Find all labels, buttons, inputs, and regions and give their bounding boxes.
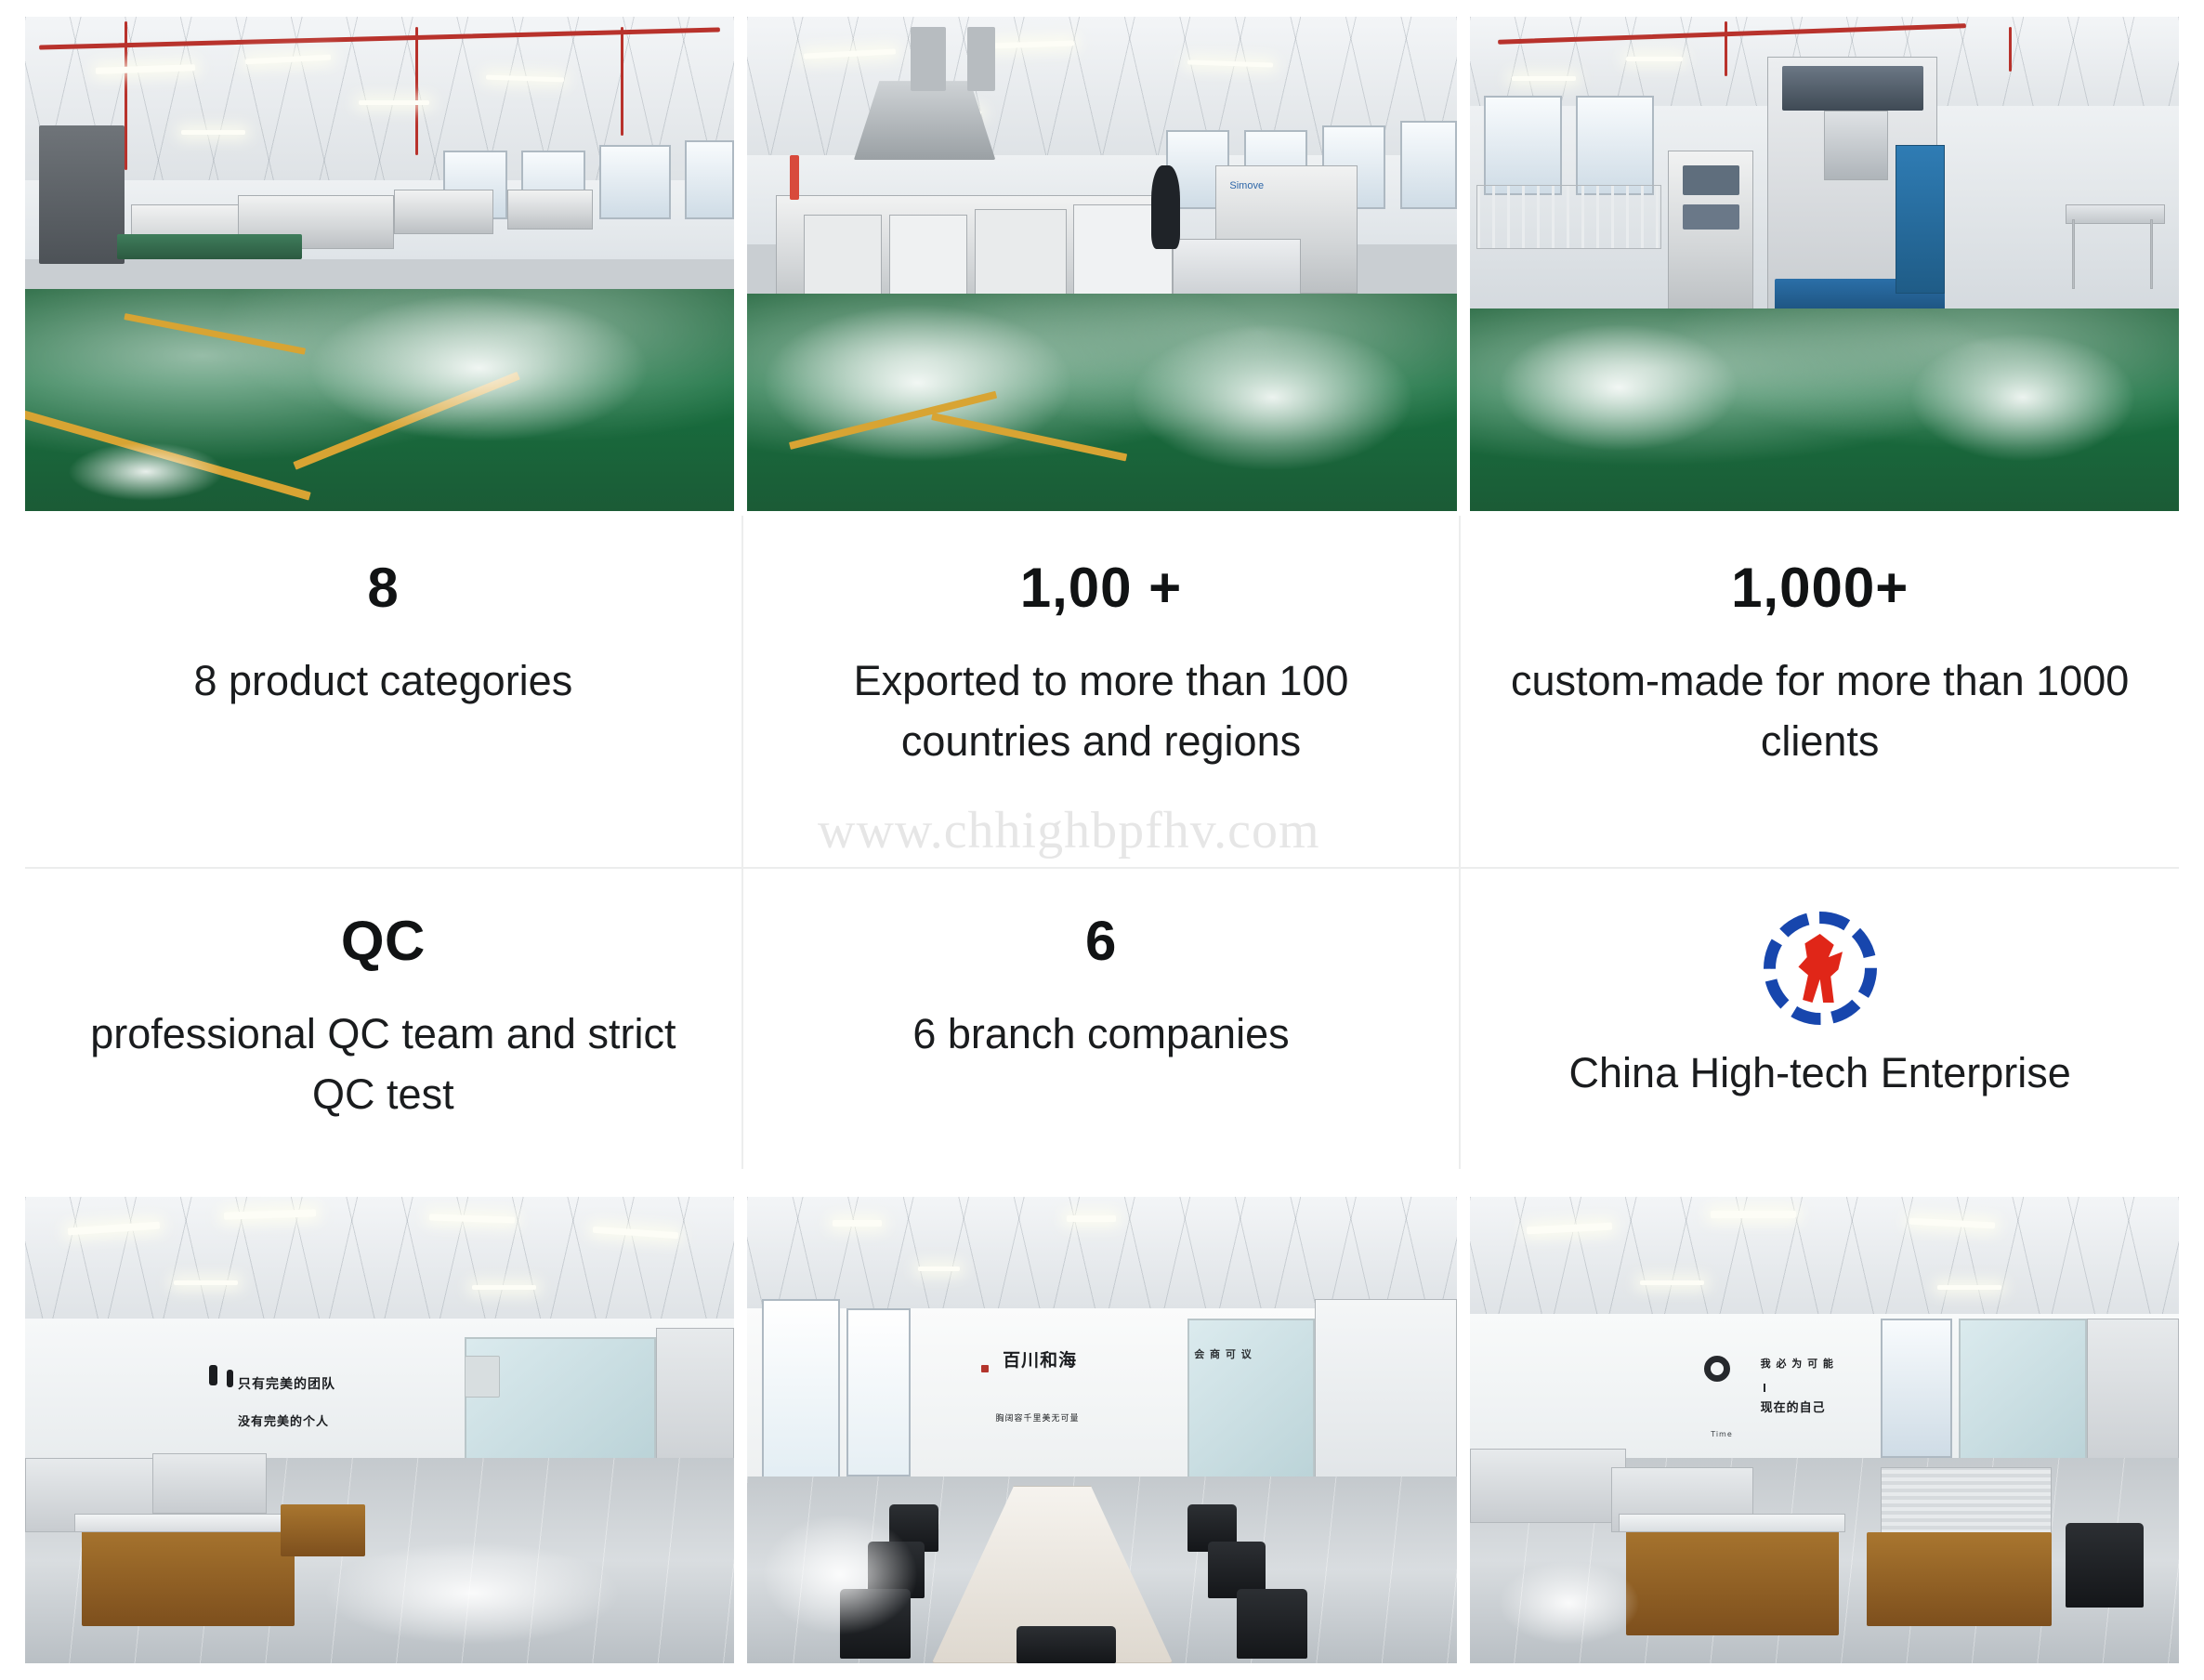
stat-value: QC <box>341 912 426 970</box>
counter-top <box>74 1514 301 1532</box>
pipe-red-icon <box>621 27 623 136</box>
window <box>1484 96 1562 194</box>
machine-top-unit <box>1782 66 1924 111</box>
glass-partition <box>1959 1319 2086 1477</box>
window <box>762 1299 840 1486</box>
company-capability-page: Simove <box>0 0 2204 1680</box>
stat-cell-high-tech-certificate: China High-tech Enterprise <box>1461 869 2179 1169</box>
stat-cell-export-countries: 1,00 + Exported to more than 100 countri… <box>743 516 1462 869</box>
reception-counter <box>82 1523 295 1625</box>
meeting-calligraphy-sub: 胸阔容千里美无可量 <box>995 1411 1079 1424</box>
stat-description: 6 branch companies <box>912 1004 1289 1064</box>
table-leg <box>2150 219 2153 288</box>
equipment-cabinet <box>39 125 125 264</box>
cabinet-display <box>1683 204 1739 230</box>
assembly-line <box>507 190 593 230</box>
office-slogan-line-1: 我 必 为 可 能 <box>1761 1356 1834 1371</box>
meeting-room-photo: 百川和海 胸阔容千里美无可量 会 商 可 议 <box>747 1197 1456 1663</box>
stat-cell-quality-control: QC professional QC team and strict QC te… <box>25 869 743 1169</box>
stat-value: 6 <box>1085 912 1117 970</box>
stat-cell-custom-clients: 1,000+ custom-made for more than 1000 cl… <box>1461 516 2179 869</box>
ceiling-lamp <box>1711 1211 1796 1218</box>
conference-chair <box>1237 1589 1307 1659</box>
meeting-door-text: 会 商 可 议 <box>1194 1346 1253 1361</box>
workstation-desk <box>1626 1523 1839 1634</box>
table-leg <box>2072 219 2075 288</box>
window <box>846 1308 911 1477</box>
pipe-red-icon <box>415 27 418 155</box>
stat-cell-branch-companies: 6 6 branch companies <box>743 869 1462 1169</box>
stat-description: 8 product categories <box>193 650 572 711</box>
window <box>1400 121 1457 210</box>
ceiling-lamp <box>918 1267 961 1271</box>
operator-person <box>1151 165 1180 249</box>
epoxy-floor <box>747 294 1456 511</box>
office-reception-photo: 只有完美的团队 没有完美的个人 <box>25 1197 734 1663</box>
office-chair <box>2066 1523 2144 1607</box>
cabinet-display <box>1683 165 1739 195</box>
stat-description: professional QC team and strict QC test <box>64 1004 702 1125</box>
stat-value: 8 <box>367 558 399 617</box>
stats-grid: 8 8 product categories 1,00 + Exported t… <box>25 516 2179 1169</box>
exhaust-duct <box>911 27 946 91</box>
office-slogan-line-1: 只有完美的团队 <box>238 1374 335 1393</box>
reflow-oven-line-photo: Simove <box>747 17 1456 511</box>
ceiling-lamp <box>833 1220 882 1227</box>
ceiling-lamp <box>359 100 429 105</box>
mixing-head <box>1824 111 1888 179</box>
assembly-line <box>394 190 493 234</box>
conference-chair <box>840 1589 911 1659</box>
pipe-red-icon <box>1725 21 1727 76</box>
stat-description: Exported to more than 100 countries and … <box>782 650 1421 772</box>
green-machine-base <box>117 234 301 259</box>
epoxy-floor <box>25 289 734 511</box>
conference-chair <box>1017 1626 1116 1663</box>
oven-indicator-tower <box>790 155 799 200</box>
bottom-photo-strip: 只有完美的团队 没有完美的个人 百川和海 胸阔容千里美无 <box>25 1197 2179 1663</box>
production-workshop-photo <box>25 17 734 511</box>
ceiling-lamp <box>1640 1280 1704 1285</box>
machine-brand-label: Simove <box>1229 180 1264 191</box>
ceiling-lamp <box>1937 1285 2001 1290</box>
china-high-tech-enterprise-logo-icon <box>1764 912 1877 1025</box>
cubicle-partition <box>1470 1449 1626 1523</box>
cubicle-partition <box>1881 1467 2051 1542</box>
workstation-desk <box>1867 1532 2051 1625</box>
potting-machine-photo <box>1470 17 2179 511</box>
ceiling-lamp <box>472 1285 536 1290</box>
ceiling-lamp <box>181 130 245 135</box>
wall-sign <box>465 1356 500 1398</box>
workstation-office-photo: 我 必 为 可 能 现在的自己 Time <box>1470 1197 2179 1663</box>
stat-description: custom-made for more than 1000 clients <box>1500 650 2140 772</box>
machine-side-panel <box>1896 145 1945 294</box>
side-wall <box>1315 1299 1457 1504</box>
calligraphy-seal <box>981 1365 989 1372</box>
clock-icon <box>1704 1356 1730 1382</box>
window <box>1881 1319 1951 1459</box>
glass-door <box>1187 1319 1315 1496</box>
stat-value: 1,000+ <box>1731 558 1909 617</box>
office-slogan-line-2: 没有完美的个人 <box>238 1411 329 1429</box>
stat-cell-product-categories: 8 8 product categories <box>25 516 743 869</box>
window <box>1576 96 1654 194</box>
wall-decal-figure <box>209 1365 217 1385</box>
stat-description: China High-tech Enterprise <box>1569 1045 2071 1102</box>
reflow-oven-panel <box>975 209 1067 303</box>
railing <box>1476 185 1660 249</box>
office-clock-word: Time <box>1711 1430 1733 1438</box>
cubicle-partition <box>152 1453 266 1514</box>
pipe-red-icon <box>2009 27 2012 72</box>
wall-decal-figure <box>227 1370 233 1387</box>
clock-hand <box>1764 1384 1765 1392</box>
office-slogan-line-2: 现在的自己 <box>1761 1398 1826 1415</box>
desk-top <box>1619 1514 1845 1532</box>
ceiling-lamp <box>1626 57 1683 61</box>
window <box>685 140 734 219</box>
exhaust-duct <box>967 27 996 91</box>
top-photo-strip: Simove <box>25 17 2179 511</box>
epoxy-floor <box>1470 308 2179 511</box>
ceiling-lamp <box>174 1280 238 1285</box>
pipe-red-icon <box>125 21 127 170</box>
reflow-oven-panel <box>889 215 967 304</box>
meeting-calligraphy-main: 百川和海 <box>1003 1346 1077 1372</box>
side-desk <box>281 1504 366 1555</box>
window <box>599 145 670 219</box>
ceiling-lamp <box>1067 1215 1116 1222</box>
stat-value: 1,00 + <box>1020 558 1183 617</box>
reflow-oven-panel <box>804 215 882 304</box>
ceiling-lamp <box>1512 76 1576 81</box>
